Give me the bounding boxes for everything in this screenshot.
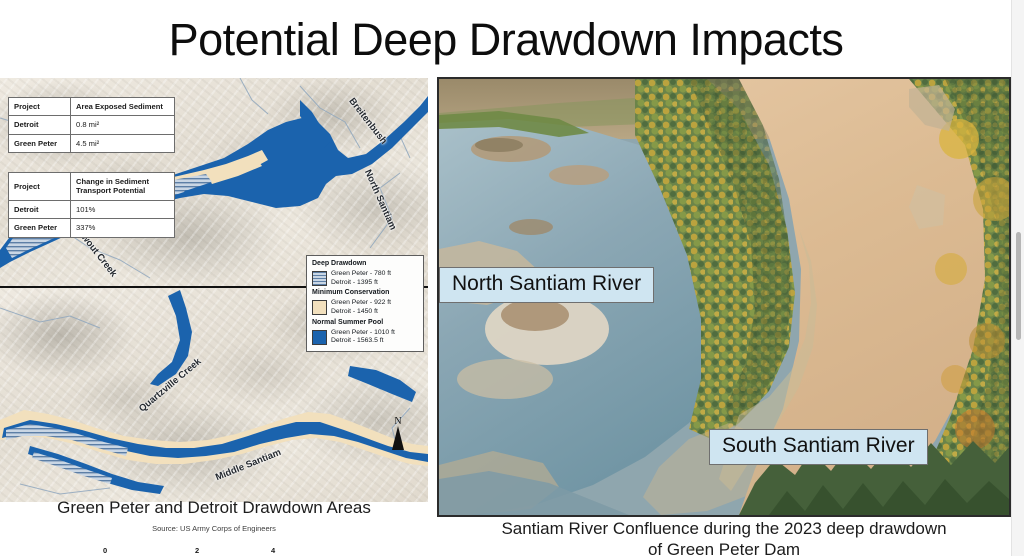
table-cell-project: Green Peter — [9, 219, 71, 237]
legend-title: Normal Summer Pool — [312, 319, 418, 328]
table-header-metric: Change in Sediment Transport Potential — [71, 173, 175, 201]
table-cell-value: 101% — [71, 200, 175, 218]
north-arrow-icon: N — [392, 416, 404, 450]
scale-tick-label: 2 — [195, 546, 199, 555]
table-cell-value: 4.5 mi² — [71, 134, 175, 152]
map-source-note: Source: US Army Corps of Engineers — [0, 524, 428, 533]
table-header-project: Project — [9, 98, 71, 116]
north-arrow-triangle — [392, 426, 404, 450]
table-row: Green Peter 337% — [9, 219, 175, 237]
legend-value: Detroit - 1395 ft — [331, 279, 418, 288]
legend-swatch-minimum-conservation — [312, 300, 327, 315]
confluence-photo: North Santiam River South Santiam River — [437, 77, 1011, 517]
table-cell-value: 337% — [71, 219, 175, 237]
vertical-scrollbar[interactable] — [1011, 0, 1024, 556]
map-figure: Breitenbush North Santiam Blowout Creek — [0, 78, 428, 502]
photo-label-north-santiam-river: North Santiam River — [439, 267, 654, 303]
legend-value: Green Peter - 922 ft — [331, 299, 418, 308]
legend-swatch-deep-drawdown — [312, 271, 327, 286]
table-row: Green Peter 4.5 mi² — [9, 134, 175, 152]
photo-caption: Santiam River Confluence during the 2023… — [437, 518, 1011, 556]
legend-group-normal-summer-pool: Normal Summer Pool Green Peter - 1010 ft… — [312, 319, 418, 346]
photo-label-south-santiam-river: South Santiam River — [709, 429, 928, 465]
photo-caption-line1: Santiam River Confluence during the 2023… — [437, 518, 1011, 539]
scale-tick-label: 0 — [103, 546, 107, 555]
page-title: Potential Deep Drawdown Impacts — [0, 16, 1012, 63]
table-area-exposed-sediment: Project Area Exposed Sediment Detroit 0.… — [8, 97, 175, 153]
legend-title: Deep Drawdown — [312, 260, 418, 269]
legend-swatch-normal-summer-pool — [312, 330, 327, 345]
legend-title: Minimum Conservation — [312, 289, 418, 298]
scale-tick-label: 4 Miles — [271, 546, 293, 556]
table-header-project: Project — [9, 173, 71, 201]
table-header-metric: Area Exposed Sediment — [71, 98, 175, 116]
map-scale-bar: 0 2 4 Miles — [97, 544, 297, 556]
table-cell-project: Green Peter — [9, 134, 71, 152]
table-cell-project: Detroit — [9, 116, 71, 134]
map-legend: Deep Drawdown Green Peter - 780 ft Detro… — [306, 255, 424, 352]
table-change-in-sediment-transport-potential: Project Change in Sediment Transport Pot… — [8, 172, 175, 238]
legend-value: Green Peter - 1010 ft — [331, 329, 418, 338]
table-row: Detroit 0.8 mi² — [9, 116, 175, 134]
table-cell-project: Detroit — [9, 200, 71, 218]
slide: Potential Deep Drawdown Impacts — [0, 0, 1024, 556]
legend-group-deep-drawdown: Deep Drawdown Green Peter - 780 ft Detro… — [312, 260, 418, 287]
table-cell-value: 0.8 mi² — [71, 116, 175, 134]
legend-group-minimum-conservation: Minimum Conservation Green Peter - 922 f… — [312, 289, 418, 316]
table-row: Project Change in Sediment Transport Pot… — [9, 173, 175, 201]
table-row: Detroit 101% — [9, 200, 175, 218]
scrollbar-thumb[interactable] — [1016, 232, 1021, 340]
table-row: Project Area Exposed Sediment — [9, 98, 175, 116]
photo-caption-line2: of Green Peter Dam — [437, 539, 1011, 556]
legend-value: Detroit - 1450 ft — [331, 308, 418, 317]
legend-value: Detroit - 1563.5 ft — [331, 337, 418, 346]
legend-value: Green Peter - 780 ft — [331, 270, 418, 279]
map-caption: Green Peter and Detroit Drawdown Areas — [0, 498, 428, 518]
